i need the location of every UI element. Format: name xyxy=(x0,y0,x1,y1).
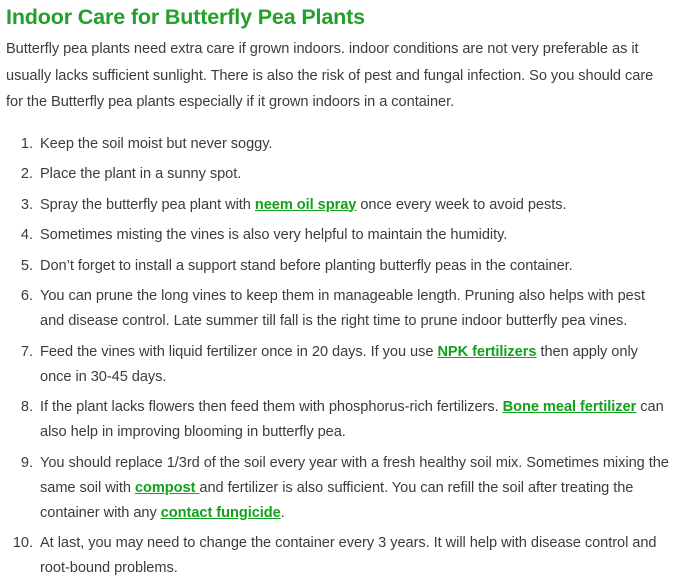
care-instructions-list: Keep the soil moist but never soggy.Plac… xyxy=(5,132,671,581)
page-title: Indoor Care for Butterfly Pea Plants xyxy=(5,0,671,30)
list-item-text: At last, you may need to change the cont… xyxy=(40,535,657,576)
list-item: If the plant lacks flowers then feed the… xyxy=(37,395,669,445)
inline-link[interactable]: contact fungicide xyxy=(161,505,281,521)
list-item: Place the plant in a sunny spot. xyxy=(37,162,669,187)
list-item: Spray the butterfly pea plant with neem … xyxy=(37,193,669,218)
list-item: Feed the vines with liquid fertilizer on… xyxy=(37,340,669,390)
list-item: Sometimes misting the vines is also very… xyxy=(37,223,669,248)
list-item-text: Place the plant in a sunny spot. xyxy=(40,166,241,182)
list-item-text: Don’t forget to install a support stand … xyxy=(40,258,573,274)
inline-link[interactable]: neem oil spray xyxy=(255,197,357,213)
article-page: Indoor Care for Butterfly Pea Plants But… xyxy=(0,0,679,581)
list-item: Keep the soil moist but never soggy. xyxy=(37,132,669,157)
list-item-text: . xyxy=(281,505,285,521)
list-item-text: Spray the butterfly pea plant with xyxy=(40,197,255,213)
list-item: You can prune the long vines to keep the… xyxy=(37,284,669,334)
list-item-text: Keep the soil moist but never soggy. xyxy=(40,136,272,152)
list-item-text: Feed the vines with liquid fertilizer on… xyxy=(40,344,437,360)
list-item-text: Sometimes misting the vines is also very… xyxy=(40,227,507,243)
list-item-text: once every week to avoid pests. xyxy=(356,197,566,213)
intro-paragraph: Butterfly pea plants need extra care if … xyxy=(5,36,671,116)
inline-link[interactable]: Bone meal fertilizer xyxy=(503,399,637,415)
inline-link[interactable]: NPK fertilizers xyxy=(437,344,536,360)
list-item-text: If the plant lacks flowers then feed the… xyxy=(40,399,503,415)
list-item-text: You can prune the long vines to keep the… xyxy=(40,288,645,329)
inline-link[interactable]: compost xyxy=(135,480,199,496)
list-item: You should replace 1/3rd of the soil eve… xyxy=(37,451,669,526)
list-item: Don’t forget to install a support stand … xyxy=(37,254,669,279)
